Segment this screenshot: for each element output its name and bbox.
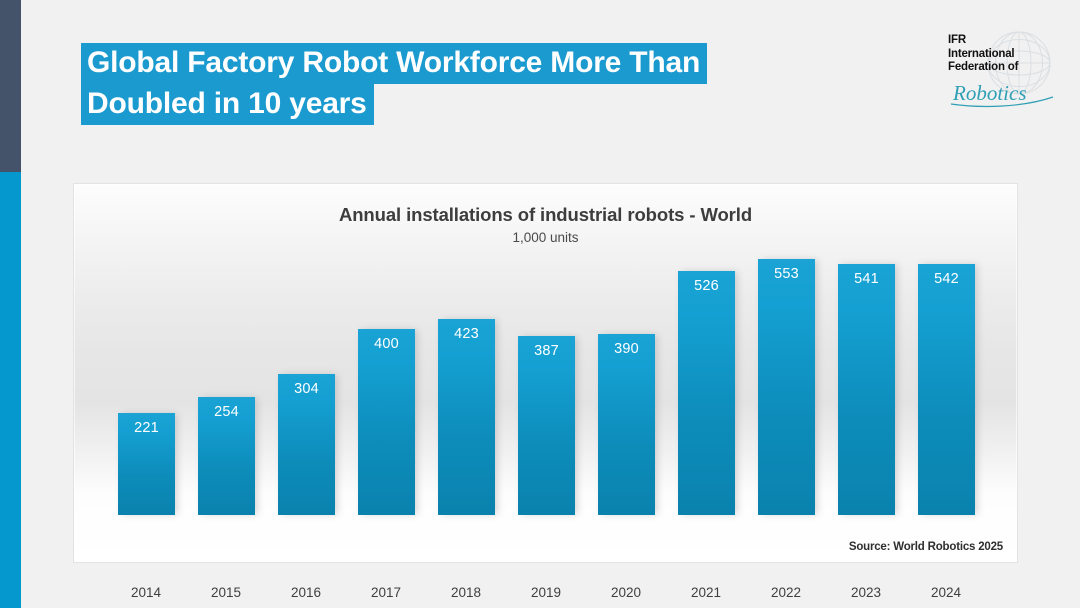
- x-axis-label-2016: 2016: [266, 585, 346, 600]
- x-axis-label-2021: 2021: [666, 585, 746, 600]
- bar-2018[interactable]: 423: [438, 319, 495, 515]
- bar-column: 221: [106, 246, 186, 515]
- bar-2024[interactable]: 542: [918, 264, 975, 515]
- slide-title: Global Factory Robot Workforce More Than…: [81, 43, 707, 125]
- x-axis-label-2017: 2017: [346, 585, 426, 600]
- bar-value-label: 304: [278, 381, 335, 397]
- bar-column: 304: [266, 246, 346, 515]
- bar-column: 526: [666, 246, 746, 515]
- x-axis-label-2020: 2020: [586, 585, 666, 600]
- x-axis-label-2019: 2019: [506, 585, 586, 600]
- bar-2023[interactable]: 541: [838, 264, 895, 515]
- bar-chart-plot-area: 2212014254201530420164002017423201838720…: [106, 246, 986, 515]
- ifr-logo-text: IFR International Federation of: [948, 34, 1018, 75]
- slide-title-line-2: Doubled in 10 years: [81, 84, 374, 125]
- bar-2017[interactable]: 400: [358, 329, 415, 515]
- bar-value-label: 553: [758, 266, 815, 282]
- bar-value-label: 221: [118, 420, 175, 436]
- ifr-logo-line-2: International: [948, 48, 1018, 62]
- bar-2016[interactable]: 304: [278, 374, 335, 515]
- bar-2022[interactable]: 553: [758, 259, 815, 515]
- bar-column: 553: [746, 246, 826, 515]
- bar-value-label: 423: [438, 326, 495, 342]
- bar-2020[interactable]: 390: [598, 334, 655, 515]
- bar-column: 400: [346, 246, 426, 515]
- bar-column: 541: [826, 246, 906, 515]
- chart-subtitle: 1,000 units: [74, 230, 1017, 245]
- x-axis-label-2014: 2014: [106, 585, 186, 600]
- ifr-logo: IFR International Federation of Robotics: [948, 28, 1060, 110]
- bar-column: 423: [426, 246, 506, 515]
- bar-value-label: 387: [518, 343, 575, 359]
- bar-column: 390: [586, 246, 666, 515]
- bar-column: 254: [186, 246, 266, 515]
- source-note: Source: World Robotics 2025: [849, 541, 1003, 553]
- chart-panel: Annual installations of industrial robot…: [73, 183, 1018, 563]
- slide-title-line-1: Global Factory Robot Workforce More Than: [81, 43, 707, 84]
- bar-2021[interactable]: 526: [678, 271, 735, 515]
- ifr-logo-line-1: IFR: [948, 34, 1018, 48]
- x-axis-label-2015: 2015: [186, 585, 266, 600]
- robotics-script-wordmark: Robotics: [949, 78, 1059, 108]
- chart-title: Annual installations of industrial robot…: [74, 204, 1017, 226]
- x-axis-label-2024: 2024: [906, 585, 986, 600]
- bar-value-label: 400: [358, 336, 415, 352]
- bar-value-label: 541: [838, 271, 895, 287]
- bar-column: 542: [906, 246, 986, 515]
- bar-column: 387: [506, 246, 586, 515]
- slide-canvas: Global Factory Robot Workforce More Than…: [0, 0, 1080, 608]
- bar-value-label: 542: [918, 271, 975, 287]
- bar-value-label: 390: [598, 341, 655, 357]
- bar-value-label: 254: [198, 404, 255, 420]
- bar-value-label: 526: [678, 278, 735, 294]
- bar-2014[interactable]: 221: [118, 413, 175, 515]
- left-rail-bottom: [0, 172, 21, 608]
- x-axis-label-2023: 2023: [826, 585, 906, 600]
- bar-2019[interactable]: 387: [518, 336, 575, 515]
- ifr-logo-line-3: Federation of: [948, 61, 1018, 75]
- robotics-script-text: Robotics: [952, 81, 1027, 105]
- left-rail-top: [0, 0, 21, 172]
- bar-2015[interactable]: 254: [198, 397, 255, 515]
- x-axis-label-2022: 2022: [746, 585, 826, 600]
- x-axis-label-2018: 2018: [426, 585, 506, 600]
